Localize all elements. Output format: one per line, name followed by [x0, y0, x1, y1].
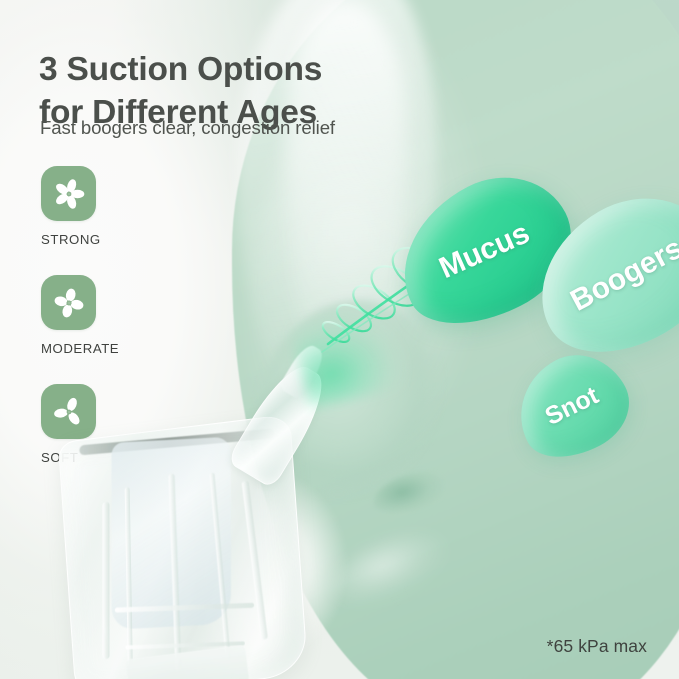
suction-option-strong[interactable]: STRONG: [41, 166, 201, 247]
nasal-aspirator-device: [58, 352, 388, 679]
strong-label: STRONG: [41, 232, 201, 247]
moderate-badge: [41, 275, 96, 330]
fan-4-blade-icon: [52, 286, 86, 320]
gunk-blob-mucus-label: Mucus: [435, 216, 536, 286]
gunk-blob-snot-label: Snot: [541, 381, 604, 431]
product-feature-poster: 3 Suction Options for Different Ages Fas…: [0, 0, 679, 679]
headline-line-1: 3 Suction Options: [39, 51, 322, 88]
strong-badge: [41, 166, 96, 221]
footnote-max-pressure: *65 kPa max: [547, 636, 647, 657]
chamber-rib: [242, 480, 268, 640]
suction-option-moderate[interactable]: MODERATE: [41, 275, 201, 356]
fan-5-blade-icon: [52, 177, 86, 211]
chamber-rib: [102, 502, 109, 659]
subtitle: Fast boogers clear, congestion relief: [40, 117, 335, 139]
gunk-blob-boogers-label: Boogers: [565, 231, 679, 318]
